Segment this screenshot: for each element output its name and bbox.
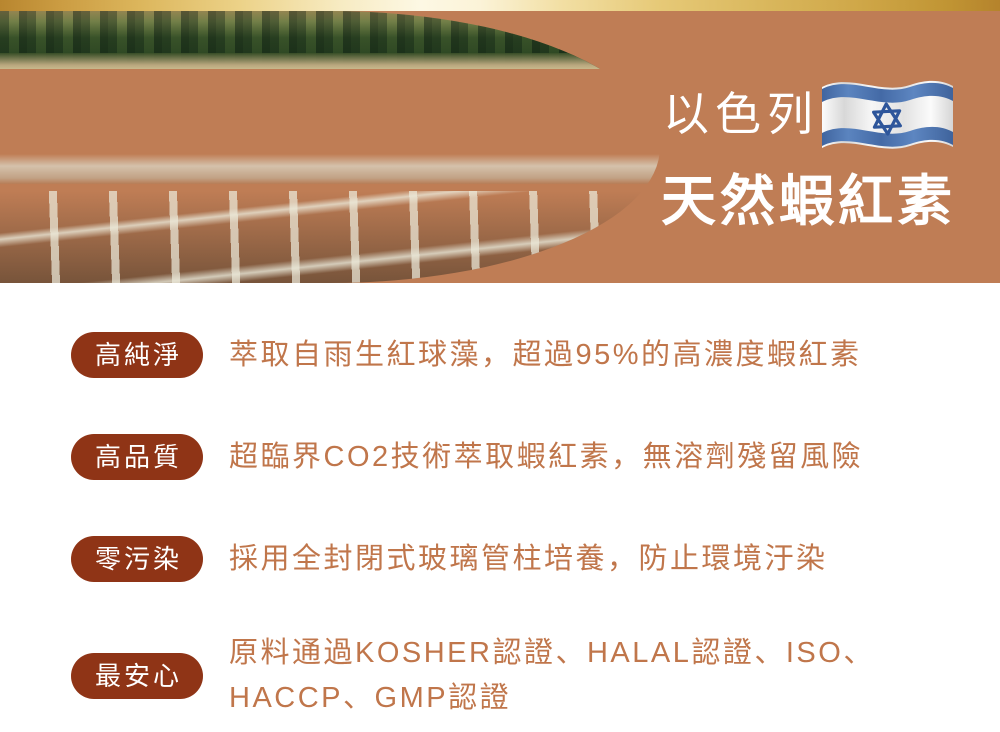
feature-text-1: 超臨界CO2技術萃取蝦紅素，無溶劑殘留風險 (229, 435, 863, 480)
feature-list: 高純淨 萃取自雨生紅球藻，超過95%的高濃度蝦紅素 高品質 超臨界CO2技術萃取… (0, 283, 1000, 732)
banner-page: 以色列 (0, 0, 1000, 732)
feature-text-2: 採用全封閉式玻璃管柱培養，防止環境汙染 (229, 537, 828, 582)
feature-badge-3: 最安心 (71, 653, 203, 699)
header-title-line1: 以色列 (663, 89, 819, 139)
cultivation-photo (0, 11, 660, 283)
feature-badge-0: 高純淨 (71, 332, 203, 378)
header-band: 以色列 (0, 11, 1000, 283)
feature-row: 高品質 超臨界CO2技術萃取蝦紅素，無溶劑殘留風險 (71, 434, 971, 480)
feature-text-0: 萃取自雨生紅球藻，超過95%的高濃度蝦紅素 (229, 333, 862, 378)
photo-treeline-layer (0, 11, 660, 69)
feature-text-3-line2: HACCP、GMP認證 (229, 676, 875, 721)
feature-row: 最安心 原料通過KOSHER認證、HALAL認證、ISO、 HACCP、GMP認… (71, 631, 971, 721)
feature-row: 高純淨 萃取自雨生紅球藻，超過95%的高濃度蝦紅素 (71, 332, 971, 378)
feature-badge-2: 零污染 (71, 536, 203, 582)
feature-row: 零污染 採用全封閉式玻璃管柱培養，防止環境汙染 (71, 536, 971, 582)
feature-badge-1: 高品質 (71, 434, 203, 480)
photo-pipework-layer (0, 191, 660, 283)
feature-text-3-line1: 原料通過KOSHER認證、HALAL認證、ISO、 (229, 637, 875, 669)
header-title-line2: 天然蝦紅素 (661, 171, 956, 231)
feature-text-3: 原料通過KOSHER認證、HALAL認證、ISO、 HACCP、GMP認證 (229, 631, 875, 721)
israel-flag-icon (820, 77, 955, 161)
photo-highlight-band (0, 154, 660, 184)
gold-divider-bar (0, 0, 1000, 11)
